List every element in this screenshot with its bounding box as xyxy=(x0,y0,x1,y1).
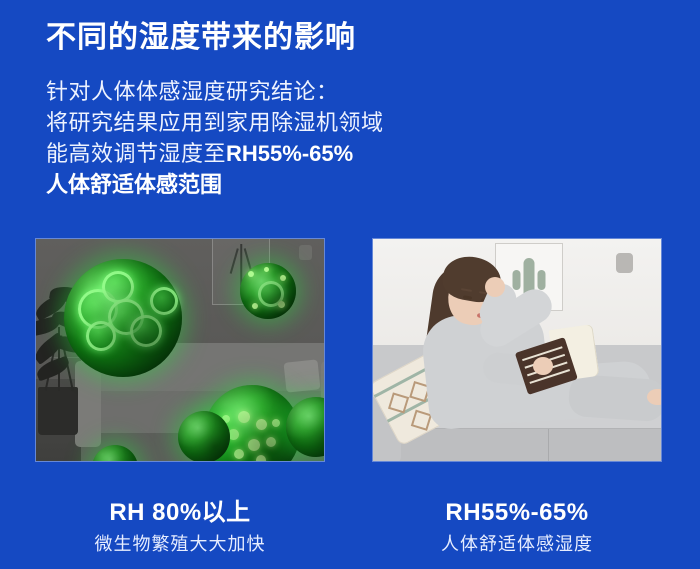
body-copy: 针对人体体感湿度研究结论： 将研究结果应用到家用除湿机领域 能高效调节湿度至RH… xyxy=(46,76,384,200)
microbe-dot xyxy=(266,437,276,447)
microbe-cell xyxy=(258,281,284,307)
caption-comfort-humidity: RH55%-65% 人体舒适体感湿度 xyxy=(372,498,662,556)
panel-high-humidity-image xyxy=(35,238,325,462)
microbe-cell xyxy=(108,299,144,335)
page-title: 不同的湿度带来的影响 xyxy=(46,18,356,58)
microbe-dot xyxy=(256,455,266,461)
microbe-dot xyxy=(256,419,267,430)
room-background-dark xyxy=(36,239,324,461)
caption-title: RH 80%以上 xyxy=(35,498,325,528)
body-line-3-prefix: 能高效调节湿度至 xyxy=(46,141,226,166)
microbe-cell xyxy=(86,321,116,351)
microbe-dot xyxy=(238,411,250,423)
plant-pot-dark xyxy=(38,387,78,435)
body-line-1: 针对人体体感湿度研究结论： xyxy=(46,76,384,107)
hand-holding-book xyxy=(533,357,553,375)
microbe-dot xyxy=(248,271,254,277)
woman-reading-figure xyxy=(373,239,661,461)
microbe-sphere-edge-left xyxy=(178,411,230,461)
hand-on-forehead xyxy=(485,277,505,297)
wall-knob-dark xyxy=(299,245,312,260)
microbe-sphere-small-top xyxy=(240,263,296,319)
dark-room-scene xyxy=(36,239,324,461)
caption-high-humidity: RH 80%以上 微生物繁殖大大加快 xyxy=(35,498,325,556)
sofa-pillow-dark xyxy=(284,359,321,392)
caption-title: RH55%-65% xyxy=(372,498,662,528)
microbe-dot xyxy=(278,301,285,308)
microbe-sphere-large xyxy=(64,259,182,377)
microbe-dot xyxy=(234,449,244,459)
caption-subtitle: 人体舒适体感湿度 xyxy=(372,532,662,556)
microbe-dot xyxy=(272,419,280,427)
microbe-dot xyxy=(252,303,258,309)
caption-subtitle: 微生物繁殖大大加快 xyxy=(35,532,325,556)
microbe-cell xyxy=(102,271,134,303)
microbe-dot xyxy=(280,275,286,281)
microbe-cell xyxy=(150,287,178,315)
humidity-range-highlight: RH55%-65% xyxy=(226,141,353,166)
bright-room-scene xyxy=(373,239,661,461)
foot xyxy=(647,389,661,405)
microbe-dot xyxy=(264,267,269,272)
body-line-2: 将研究结果应用到家用除湿机领域 xyxy=(46,107,384,138)
panel-comfort-humidity-image xyxy=(372,238,662,462)
microbe-cell xyxy=(78,289,118,329)
room-background-light xyxy=(373,239,661,461)
humidity-infographic: 不同的湿度带来的影响 针对人体体感湿度研究结论： 将研究结果应用到家用除湿机领域… xyxy=(0,0,700,569)
body-line-4: 人体舒适体感范围 xyxy=(46,169,384,200)
microbe-cell xyxy=(130,315,162,347)
body-line-3: 能高效调节湿度至RH55%-65% xyxy=(46,138,384,169)
microbe-dot xyxy=(248,439,260,451)
